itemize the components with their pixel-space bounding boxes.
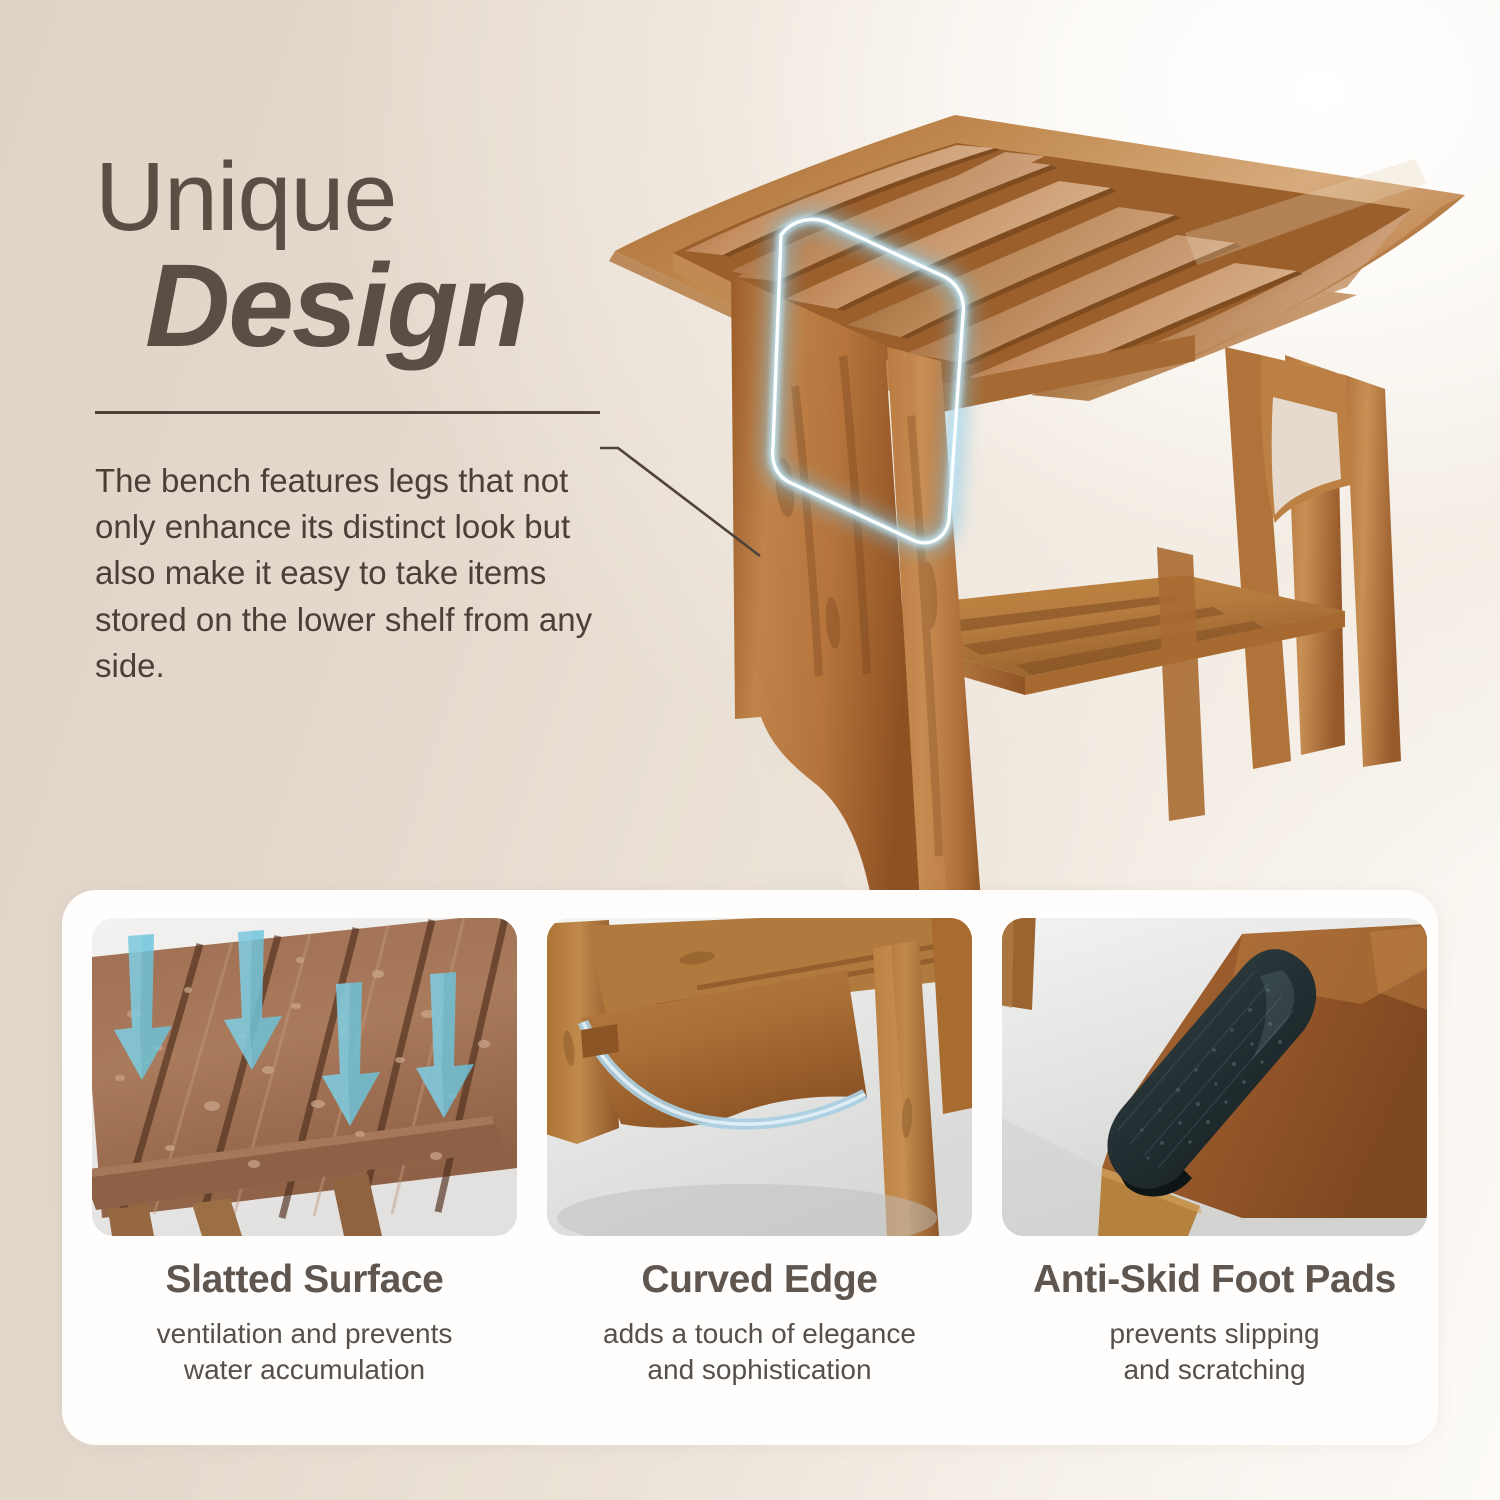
subtitle-line-2: water accumulation (184, 1354, 425, 1385)
subtitle-line-1: adds a touch of elegance (603, 1318, 916, 1349)
feature-subtitle-slatted-surface: ventilation and prevents water accumulat… (92, 1316, 517, 1389)
hero-text-block: Unique Design The bench features legs th… (95, 150, 655, 689)
subtitle-line-2: and scratching (1123, 1354, 1305, 1385)
feature-title-anti-skid-foot-pads: Anti-Skid Foot Pads (1002, 1258, 1427, 1302)
subtitle-line-1: ventilation and prevents (157, 1318, 453, 1349)
feature-panels-row: Slatted Surface ventilation and prevents… (62, 890, 1438, 1389)
feature-title-curved-edge: Curved Edge (547, 1258, 972, 1302)
feature-panel-anti-skid-foot-pads: Anti-Skid Foot Pads prevents slipping an… (1002, 918, 1427, 1389)
photo-curved-edge (547, 918, 972, 1236)
page-title-line2: Design (145, 247, 655, 365)
photo-anti-skid-foot-pad (1002, 918, 1427, 1236)
feature-title-slatted-surface: Slatted Surface (92, 1258, 517, 1302)
subtitle-line-2: and sophistication (647, 1354, 871, 1385)
subtitle-line-1: prevents slipping (1109, 1318, 1319, 1349)
title-divider-rule (95, 411, 600, 414)
feature-panel-curved-edge: Curved Edge adds a touch of elegance and… (547, 918, 972, 1389)
hero-body-text: The bench features legs that not only en… (95, 458, 635, 689)
feature-subtitle-curved-edge: adds a touch of elegance and sophisticat… (547, 1316, 972, 1389)
features-card: Slatted Surface ventilation and prevents… (62, 890, 1438, 1445)
feature-panel-slatted-surface: Slatted Surface ventilation and prevents… (92, 918, 517, 1389)
feature-subtitle-anti-skid-foot-pads: prevents slipping and scratching (1002, 1316, 1427, 1389)
photo-slatted-surface (92, 918, 517, 1236)
page-title-line1: Unique (95, 150, 655, 243)
hero-product-image (585, 55, 1485, 955)
